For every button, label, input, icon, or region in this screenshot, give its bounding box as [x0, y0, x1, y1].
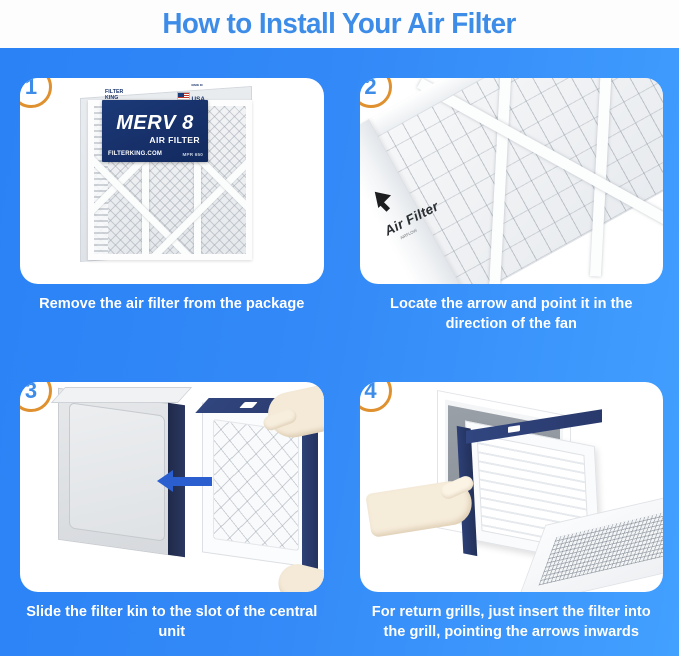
brand-name-line2: KING: [105, 96, 123, 101]
filter-product-label: FILTER KING MADE IN USA MER: [102, 100, 208, 162]
step-card-3: 3 Slide the filter kin to the slot of th…: [0, 352, 340, 656]
step-1-caption: Remove the air filter from the package: [20, 295, 324, 315]
step-1-image-card: FILTER KING MADE IN USA MER: [20, 78, 324, 284]
filter-king-logo: FILTER KING: [105, 90, 123, 101]
step-2-caption: Locate the arrow and point it in the dir…: [360, 295, 664, 334]
page-title: How to Install Your Air Filter: [163, 10, 516, 39]
merv-rating-text: MERV 8: [102, 113, 208, 133]
made-in-usa-badge: MADE IN USA: [177, 85, 205, 106]
step-3-artwork: [20, 382, 324, 592]
step-4-image-card: 4: [360, 382, 664, 592]
step-1-number: 1: [25, 78, 37, 98]
made-in-usa-text: MADE IN USA: [192, 85, 206, 106]
step-4-artwork: [360, 382, 664, 592]
filter-illustration-mesh: [213, 419, 299, 551]
page-header: How to Install Your Air Filter: [0, 0, 679, 48]
filter-illustration-edge: [302, 417, 318, 569]
step-3-number: 3: [25, 382, 37, 402]
step-2-artwork: Air Filter AIRFLOW: [360, 78, 664, 284]
step-2-number: 2: [364, 78, 376, 98]
air-filter-product-image: FILTER KING MADE IN USA MER: [80, 92, 255, 262]
step-3-caption: Slide the filter kin to the slot of the …: [20, 603, 324, 642]
hvac-unit-panel: [69, 402, 165, 541]
usa-flag-icon: [177, 92, 190, 100]
step-card-4: 4 For return grills, just insert the fil…: [340, 352, 679, 656]
step-3-image-card: 3: [20, 382, 324, 592]
country-label: USA: [192, 96, 206, 103]
step-card-2: Air Filter AIRFLOW 2 Locate the arrow an…: [340, 48, 679, 352]
step-card-1: FILTER KING MADE IN USA MER: [0, 48, 340, 352]
step-2-image-card: Air Filter AIRFLOW 2: [360, 78, 664, 284]
steps-grid: FILTER KING MADE IN USA MER: [0, 48, 679, 656]
step-4-number: 4: [364, 382, 376, 402]
hvac-unit-top: [51, 387, 192, 403]
product-type-text: AIR FILTER: [149, 135, 200, 145]
filter-corner-photo: Air Filter AIRFLOW: [360, 78, 664, 284]
made-in-label: MADE IN: [192, 85, 206, 88]
step-4-caption: For return grills, just insert the filte…: [360, 603, 664, 642]
website-text: FILTERKING.COM: [108, 151, 162, 157]
slide-direction-arrow-icon: [172, 477, 212, 486]
mpr-rating-text: MPR 650: [182, 152, 203, 157]
label-footer-row: FILTERKING.COM MPR 650: [108, 151, 203, 157]
label-header-row: FILTER KING MADE IN USA: [102, 90, 208, 101]
step-1-artwork: FILTER KING MADE IN USA MER: [20, 78, 324, 284]
